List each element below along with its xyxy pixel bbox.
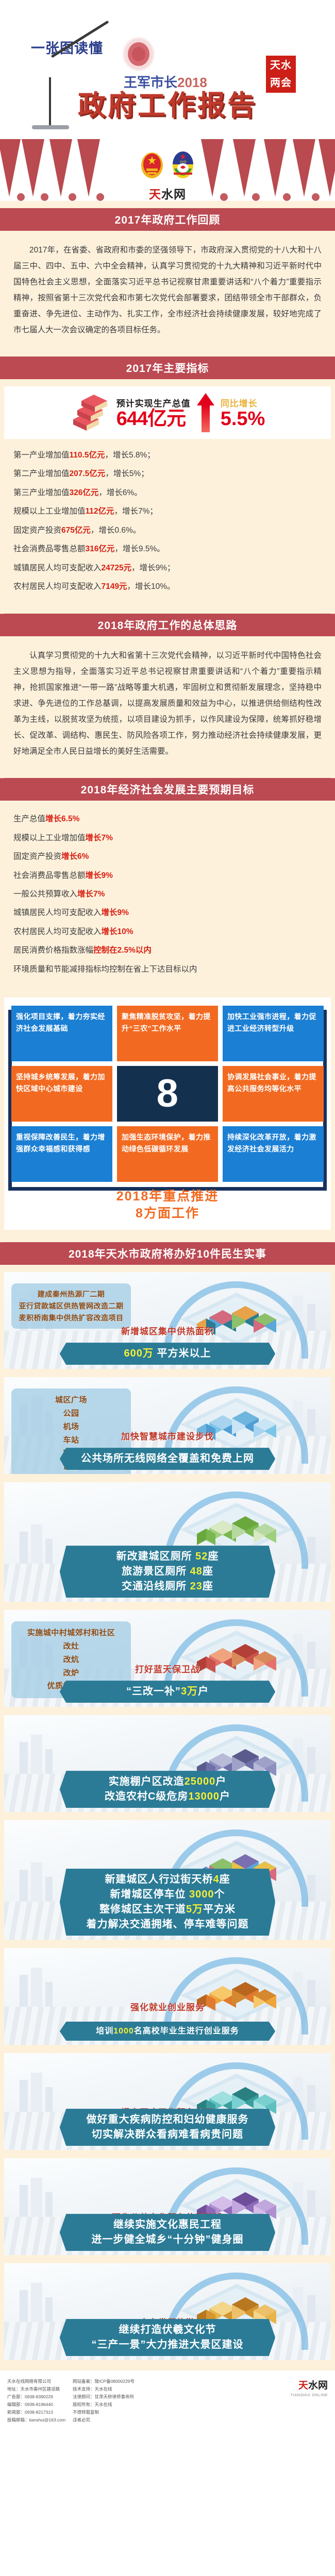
- footer-logo: 天水网 TIANSHUI ONLINE: [290, 2378, 328, 2397]
- indicator-suffix: ，增长6%。: [98, 488, 142, 497]
- livelihood-item-10: 大力发展旅游继续打造伏羲文化节“三产一景”大力推进大景区建设: [4, 2263, 331, 2360]
- indicator-value: 24725元: [102, 564, 132, 572]
- task-cell-8: 加强生态环境保护，着力推动绿色低碳循环发展: [117, 1126, 218, 1182]
- eight-caption-line1: 2018年重点推进: [11, 1188, 324, 1205]
- growth-text-block: 同比增长 5.5%: [221, 396, 265, 430]
- up-arrow-icon: [197, 393, 214, 432]
- detail-line: 麦积桥南集中供热扩容改造项目: [15, 1312, 127, 1324]
- livelihood-item-1: 建成秦州热源厂二期亚行贷款城区供热管网改造二期麦积桥南集中供热扩容改造项目新增城…: [4, 1272, 331, 1369]
- review-2017-paragraph: 2017年，在省委、省政府和市委的坚强领导下，市政府深入贯彻党的十八大和十八届三…: [13, 242, 322, 338]
- page-footer: 天水在线网络有限公司地址：天水市秦州区建设路广告部：0938-8390229编辑…: [0, 2370, 335, 2433]
- ribbon-label: 2017年主要指标: [4, 357, 331, 379]
- microphone-base-icon: [32, 125, 69, 129]
- task-cell-2: 聚焦精准脱贫攻坚，着力提升“三农”工作水平: [117, 1006, 218, 1061]
- indicator-item: 第二产业增加值207.5亿元，增长5%；: [13, 465, 322, 483]
- indicator-value: 207.5亿元: [70, 469, 106, 478]
- indicator-label: 农村居民人均可支配收入: [13, 927, 102, 936]
- indicator-item: 社会消费品零售总额316亿元，增长9.5%。: [13, 540, 322, 558]
- indicator-value: 增长7%: [86, 834, 113, 842]
- indicator-label: 农村居民人均可支配收入: [13, 582, 102, 591]
- indicator-label: 固定资产投资: [13, 852, 61, 861]
- banner-line: 新改建城区厕所 52座: [73, 1549, 262, 1564]
- livelihood-banner: 600万 平方米以上: [60, 1343, 275, 1365]
- indicator-value: 316亿元: [86, 545, 115, 553]
- banner-line: 继续打造伏羲文化节: [73, 2323, 262, 2337]
- targets-2018-list: 生产总值增长6.5%规模以上工业增加值增长7%固定资产投资增长6%社会消费品零售…: [0, 803, 335, 989]
- livelihood-banner: 继续打造伏羲文化节“三产一景”大力推进大景区建设: [60, 2319, 275, 2356]
- indicator-label: 第一产业增加值: [13, 451, 70, 460]
- section-heading-plan-2018: 2018年政府工作的总体思路: [0, 606, 335, 638]
- banner-line: 做好重大疾病防控和妇幼健康服务: [73, 2112, 262, 2127]
- indicator-label: 规模以上工业增加值: [13, 507, 86, 516]
- indicator-item: 城镇居民人均可支配收入增长9%: [13, 904, 322, 922]
- footer-line: 广告部：0938-8390229: [7, 2393, 65, 2401]
- indicator-label: 第二产业增加值: [13, 469, 70, 478]
- isometric-city-icon: [178, 1965, 295, 2023]
- livelihood-banner: 公共场所无线网络全覆盖和免费上网: [60, 1448, 275, 1470]
- task-cell-3: 加快工业强市进程，着力促进工业经济转型升级: [223, 1006, 324, 1061]
- illustration: [152, 1486, 322, 1554]
- plan-2018-paragraph-block: 认真学习贯彻党的十九大和省第十三次党代会精神，以习近平新时代中国特色社会主义思想…: [0, 638, 335, 771]
- indicator-label: 规模以上工业增加值: [13, 834, 86, 842]
- banner-line: 交通沿线厕所 23座: [73, 1579, 262, 1594]
- livelihood-banner: 培训1000名高校毕业生进行创业服务: [60, 2022, 275, 2041]
- livelihood-tagline: 加快智慧城市建设步伐: [4, 1429, 331, 1442]
- indicator-item: 城镇居民人均可支配收入24725元，增长9%；: [13, 559, 322, 578]
- indicator-value: 增长9%: [86, 871, 113, 880]
- livelihood-item-2: 城区广场公园机场车站宾馆饭店商场医院旅游景点等加快智慧城市建设步伐公共场所无线网…: [4, 1377, 331, 1474]
- indicator-value: 326亿元: [70, 488, 99, 497]
- section-heading-livelihood: 2018年天水市政府将办好10件民生实事: [0, 1235, 335, 1267]
- banner-line: 继续实施文化惠民工程: [73, 2217, 262, 2232]
- stacked-blocks-icon: [70, 393, 112, 433]
- banner-line: 整修城区主次干道5万平方米: [73, 1902, 262, 1917]
- cppcc-emblem-icon: 1949: [171, 151, 195, 180]
- site-logo: 天水网: [136, 181, 199, 201]
- site-logo-left: 天: [149, 188, 161, 201]
- task-cell-7: 重视保障改善民生，着力增强群众幸福感和获得感: [11, 1126, 112, 1182]
- growth-value: 5.5%: [221, 409, 265, 430]
- indicator-item: 第一产业增加值110.5亿元，增长5.8%；: [13, 446, 322, 465]
- eight-tasks-grid: 强化项目支撑，着力夯实经济社会发展基础聚焦精准脱贫攻坚，着力提升“三农”工作水平…: [11, 1006, 324, 1182]
- indicator-item: 规模以上工业增加值112亿元，增长7%；: [13, 502, 322, 521]
- ribbon-label: 2018年政府工作的总体思路: [4, 614, 331, 636]
- indicator-item: 环境质量和节能减排指标均控制在省上下达目标以内: [13, 960, 322, 979]
- footer-logo-sub: TIANSHUI ONLINE: [290, 2393, 328, 2397]
- livelihood-item-9: 深化公共文化服务体系建设继续实施文化惠民工程进一步健全城乡“十分钟”健身圈: [4, 2158, 331, 2255]
- livelihood-cards: 建成秦州热源厂二期亚行贷款城区供热管网改造二期麦积桥南集中供热扩容改造项目新增城…: [0, 1267, 335, 2370]
- section-heading-indicators-2017: 2017年主要指标: [0, 349, 335, 381]
- livelihood-tagline: 强化就业创业服务: [4, 2000, 331, 2013]
- indicator-suffix: ，增长5.8%；: [105, 451, 155, 460]
- eight-caption-line2: 8方面工作: [11, 1205, 324, 1222]
- banner-line: 新增城区停车位 3000个: [73, 1887, 262, 1902]
- footer-line: 技术支持：天水在线: [73, 2385, 135, 2393]
- footer-line: 网站备案：陇ICP备08000229号: [73, 2378, 135, 2385]
- livelihood-item-8: 提高医疗卫生服务水平做好重大疾病防控和妇幼健康服务切实解决群众看病难看病贵问题: [4, 2053, 331, 2150]
- footer-line: 地址：天水市秦州区建设路: [7, 2385, 65, 2393]
- detail-line: 公园: [15, 1407, 127, 1420]
- indicator-item: 生产总值增长6.5%: [13, 810, 322, 828]
- isometric-city-icon: [178, 1628, 295, 1685]
- footer-line: 新闻部：0938-8217313: [7, 2409, 65, 2416]
- livelihood-tagline: 新增城区集中供热面积: [4, 1324, 331, 1337]
- task-cell-4: 坚持城乡统筹发展，着力加快区域中心城市建设: [11, 1066, 112, 1122]
- indicator-item: 农村居民人均可支配收入7149元，增长10%。: [13, 578, 322, 596]
- indicator-value: 7149元: [102, 582, 127, 591]
- indicators-2017-list: 第一产业增加值110.5亿元，增长5.8%；第二产业增加值207.5亿元，增长5…: [0, 439, 335, 606]
- plan-2018-paragraph: 认真学习贯彻党的十九大和省第十三次党代会精神，以习近平新时代中国特色社会主义思想…: [13, 648, 322, 759]
- indicator-label: 社会消费品零售总额: [13, 871, 86, 880]
- banner-line: 新建城区人行过街天桥4座: [73, 1872, 262, 1887]
- indicator-label: 生产总值: [13, 815, 45, 823]
- hero-banner: 一张图读懂 王军市长2018 天水两会 政府工作报告: [0, 0, 335, 201]
- indicator-value: 112亿元: [86, 507, 114, 516]
- banner-line: 进一步健全城乡“十分钟”健身圈: [73, 2232, 262, 2247]
- gdp-label: 预计实现生产总值: [116, 396, 191, 409]
- indicator-label: 城镇居民人均可支配收入: [13, 564, 102, 572]
- eight-tasks-center-number: 8: [117, 1066, 218, 1122]
- indicator-item: 规模以上工业增加值增长7%: [13, 829, 322, 848]
- indicator-value: 增长6%: [61, 852, 89, 861]
- task-cell-1: 强化项目支撑，着力夯实经济社会发展基础: [11, 1006, 112, 1061]
- indicator-item: 社会消费品零售总额增长9%: [13, 867, 322, 885]
- indicator-value: 增长7%: [77, 890, 105, 899]
- livelihood-item-3: 积极推进“厕所革命”新改建城区厕所 52座旅游景区厕所 48座交通沿线厕所 23…: [4, 1482, 331, 1602]
- detail-line: 实施城中村城郊村和社区: [15, 1626, 127, 1640]
- indicator-item: 固定资产投资675亿元，增长0.6%。: [13, 521, 322, 540]
- banner-line: 培训1000名高校毕业生进行创业服务: [73, 2025, 262, 2037]
- detail-line: 建成秦州热源厂二期: [15, 1289, 127, 1300]
- svg-text:1949: 1949: [180, 161, 187, 164]
- footer-line: 版权所有：天水在线: [73, 2401, 135, 2409]
- indicator-suffix: ，增长10%。: [127, 582, 175, 591]
- banner-line: 实施棚户区改造25000户: [73, 1774, 262, 1789]
- indicator-item: 农村居民人均可支配收入增长10%: [13, 923, 322, 941]
- indicator-value: 增长9%: [102, 908, 129, 917]
- livelihood-banner: “三改一补”3万户: [60, 1681, 275, 1703]
- gdp-value: 644亿元: [116, 409, 191, 430]
- growth-label: 同比增长: [221, 396, 265, 409]
- livelihood-item-6: 优化市区交通管理与设施新建城区人行过街天桥4座新增城区停车位 3000个整修城区…: [4, 1820, 331, 1940]
- indicator-value: 控制在2.5%以内: [93, 946, 152, 955]
- indicator-label: 居民消费价格指数涨幅: [13, 946, 93, 955]
- indicator-suffix: ，增长7%；: [114, 507, 158, 516]
- indicator-label: 第三产业增加值: [13, 488, 70, 497]
- national-emblems: 1949: [0, 151, 335, 180]
- footer-column-legal: 网站备案：陇ICP备08000229号技术支持：天水在线法律顾问：甘肃天桥律师事…: [73, 2378, 135, 2424]
- site-logo-right: 水网: [161, 188, 186, 201]
- indicator-item: 第三产业增加值326亿元，增长6%。: [13, 484, 322, 502]
- banner-line: “三产一景”大力推进大景区建设: [73, 2337, 262, 2352]
- footer-logo-right: 水网: [308, 2380, 328, 2391]
- eight-tasks-frame: 强化项目支撑，着力夯实经济社会发展基础聚焦精准脱贫攻坚，着力提升“三农”工作水平…: [4, 997, 331, 1230]
- livelihood-tagline: 打好蓝天保卫战: [4, 1662, 331, 1675]
- footer-line: 法律顾问：甘肃天桥律师事务所: [73, 2393, 135, 2401]
- section-heading-targets-2018: 2018年经济社会发展主要预期目标: [0, 771, 335, 803]
- detail-line: 改灶: [15, 1640, 127, 1653]
- banner-line: 改造农村C级危房13000户: [73, 1789, 262, 1804]
- ribbon-label: 2018年天水市政府将办好10件民生实事: [4, 1242, 331, 1265]
- indicator-value: 110.5亿元: [70, 451, 105, 460]
- indicator-item: 固定资产投资增长6%: [13, 848, 322, 866]
- livelihood-banner: 新改建城区厕所 52座旅游景区厕所 48座交通沿线厕所 23座: [60, 1546, 275, 1598]
- page-title: 政府工作报告: [0, 82, 335, 123]
- banner-line: 600万 平方米以上: [73, 1346, 262, 1361]
- livelihood-banner: 做好重大疾病防控和妇幼健康服务切实解决群众看病难看病贵问题: [60, 2109, 275, 2146]
- indicator-item: 居民消费价格指数涨幅控制在2.5%以内: [13, 941, 322, 960]
- banner-line: “三改一补”3万户: [73, 1684, 262, 1699]
- indicator-label: 城镇居民人均可支配收入: [13, 908, 102, 917]
- detail-line: 城区广场: [15, 1394, 127, 1407]
- section-heading-review-2017: 2017年政府工作回顾: [0, 201, 335, 233]
- livelihood-item-4: 实施城中村城郊村和社区改灶改炕改炉优质煤炭补贴打好蓝天保卫战“三改一补”3万户: [4, 1610, 331, 1707]
- livelihood-detail-box: 建成秦州热源厂二期亚行贷款城区供热管网改造二期麦积桥南集中供热扩容改造项目: [11, 1283, 131, 1329]
- review-2017-paragraph-block: 2017年，在省委、省政府和市委的坚强领导下，市政府深入贯彻党的十八大和十八届三…: [0, 233, 335, 349]
- task-cell-9: 持续深化改革开放，着力激发经济社会发展活力: [223, 1126, 324, 1182]
- banner-line: 旅游景区厕所 48座: [73, 1564, 262, 1579]
- indicator-value: 增长6.5%: [45, 815, 79, 823]
- banner-line: 公共场所无线网络全覆盖和免费上网: [73, 1451, 262, 1466]
- footer-column-contact: 天水在线网络有限公司地址：天水市秦州区建设路广告部：0938-8390229编辑…: [7, 2378, 65, 2424]
- indicator-label: 环境质量和节能减排指标均控制在省上下达目标以内: [13, 965, 197, 974]
- indicator-label: 一般公共预算收入: [13, 890, 77, 899]
- detail-line: 亚行贷款城区供热管网改造二期: [15, 1300, 127, 1312]
- national-emblem-icon: [140, 151, 164, 180]
- isometric-city-icon: [178, 1395, 295, 1452]
- indicator-suffix: ，增长9%；: [131, 564, 175, 572]
- footer-line: 投稿邮箱：tianshui@163.com: [7, 2416, 65, 2424]
- livelihood-banner: 继续实施文化惠民工程进一步健全城乡“十分钟”健身圈: [60, 2214, 275, 2251]
- indicator-label: 固定资产投资: [13, 526, 61, 535]
- livelihood-banner: 实施棚户区改造25000户改造农村C级危房13000户: [60, 1771, 275, 1808]
- microphone-head-icon: [128, 42, 149, 66]
- livelihood-banner: 新建城区人行过街天桥4座新增城区停车位 3000个整修城区主次干道5万平方米着力…: [60, 1869, 275, 1936]
- footer-logo-left: 天: [298, 2380, 308, 2391]
- indicator-value: 增长10%: [102, 927, 133, 936]
- task-cell-6: 协调发展社会事业，着力提高公共服务均等化水平: [223, 1066, 324, 1122]
- livelihood-item-7: 强化就业创业服务培训1000名高校毕业生进行创业服务: [4, 1948, 331, 2045]
- ribbon-label: 2017年政府工作回顾: [4, 208, 331, 231]
- indicator-item: 一般公共预算收入增长7%: [13, 885, 322, 904]
- gdp-text-block: 预计实现生产总值 644亿元: [116, 396, 191, 430]
- infographic-page: 一张图读懂 王军市长2018 天水两会 政府工作报告: [0, 0, 335, 2433]
- detail-line: 商场: [15, 1473, 127, 1474]
- footer-line: 天水在线网络有限公司: [7, 2378, 65, 2385]
- indicator-value: 675亿元: [61, 526, 91, 535]
- eight-tasks-section: 强化项目支撑，着力夯实经济社会发展基础聚焦精准脱贫攻坚，着力提升“三农”工作水平…: [0, 989, 335, 1235]
- indicator-suffix: ，增长5%；: [105, 469, 148, 478]
- footer-line: 违者必究: [73, 2416, 135, 2424]
- indicator-suffix: ，增长0.6%。: [91, 526, 141, 535]
- eight-tasks-caption: 2018年重点推进 8方面工作: [11, 1182, 324, 1225]
- isometric-city-icon: [178, 1290, 295, 1347]
- ribbon-label: 2018年经济社会发展主要预期目标: [4, 778, 331, 801]
- footer-line: 编辑部：0938-8196440: [7, 2401, 65, 2409]
- footer-line: 不得转载复制: [73, 2409, 135, 2416]
- livelihood-item-5: 实施棚户区改造25000户改造农村C级危房13000户: [4, 1715, 331, 1812]
- banner-line: 切实解决群众看病难看病贵问题: [73, 2127, 262, 2142]
- indicator-label: 社会消费品零售总额: [13, 545, 86, 553]
- banner-line: 着力解决交通拥堵、停车难等问题: [73, 1917, 262, 1932]
- gdp-highlight-card: 预计实现生产总值 644亿元 同比增长 5.5%: [4, 386, 331, 439]
- indicator-suffix: ，增长9.5%。: [114, 545, 164, 553]
